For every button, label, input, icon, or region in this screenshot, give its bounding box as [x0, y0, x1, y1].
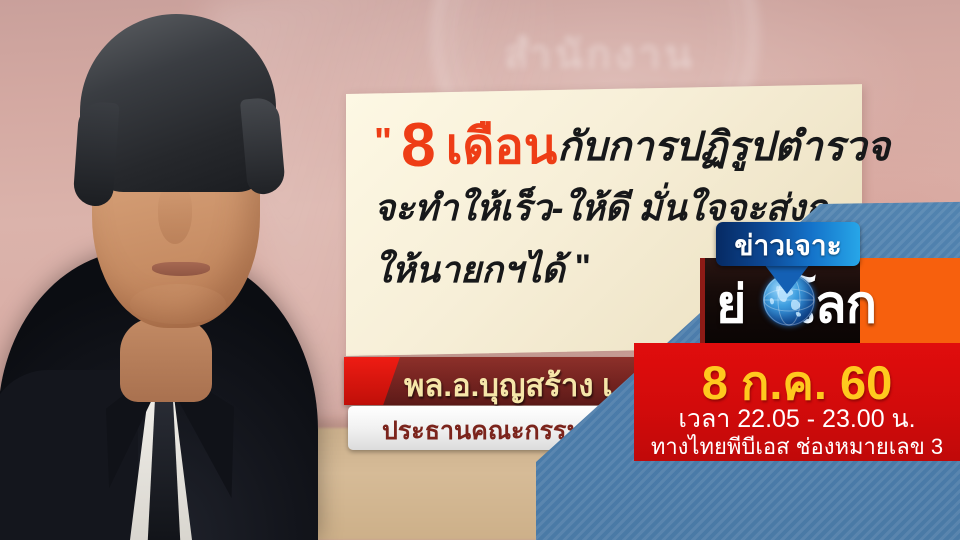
quote-highlight: เดือน — [446, 120, 558, 174]
mouth — [152, 262, 210, 276]
nose — [158, 184, 192, 244]
open-quote-mark: " — [374, 121, 390, 163]
quote-line-1-rest: กับการปฏิรูปตำรวจ — [557, 125, 890, 169]
portrait-figure — [0, 0, 326, 540]
chin — [130, 284, 226, 324]
broadcast-channel: ทางไทยพีบีเอส ช่องหมายเลข 3 — [634, 429, 960, 464]
person-name: พล.อ.บุญสร้าง เ — [404, 360, 613, 410]
quote-line-3-text: ให้นายกฯได้ — [374, 249, 565, 290]
broadcast-info-panel: 8 ก.ค. 60 เวลา 22.05 - 23.00 น. ทางไทยพี… — [634, 343, 960, 461]
logo-word-before: ย่ — [716, 276, 745, 334]
quote-line-1: " 8 เดือนกับการปฏิรูปตำรวจ — [374, 111, 836, 178]
promo-graphic: สำนักงาน " 8 เดือนกับการปฏิรูปตำรวจ จะทำ… — [0, 0, 960, 540]
program-category-bubble: ข่าวเจาะ — [716, 222, 860, 266]
hair — [80, 14, 276, 192]
program-category-label: ข่าวเจาะ — [716, 224, 860, 268]
neck — [120, 318, 212, 402]
quote-number: 8 — [401, 111, 434, 180]
close-quote-mark: " — [575, 248, 591, 286]
